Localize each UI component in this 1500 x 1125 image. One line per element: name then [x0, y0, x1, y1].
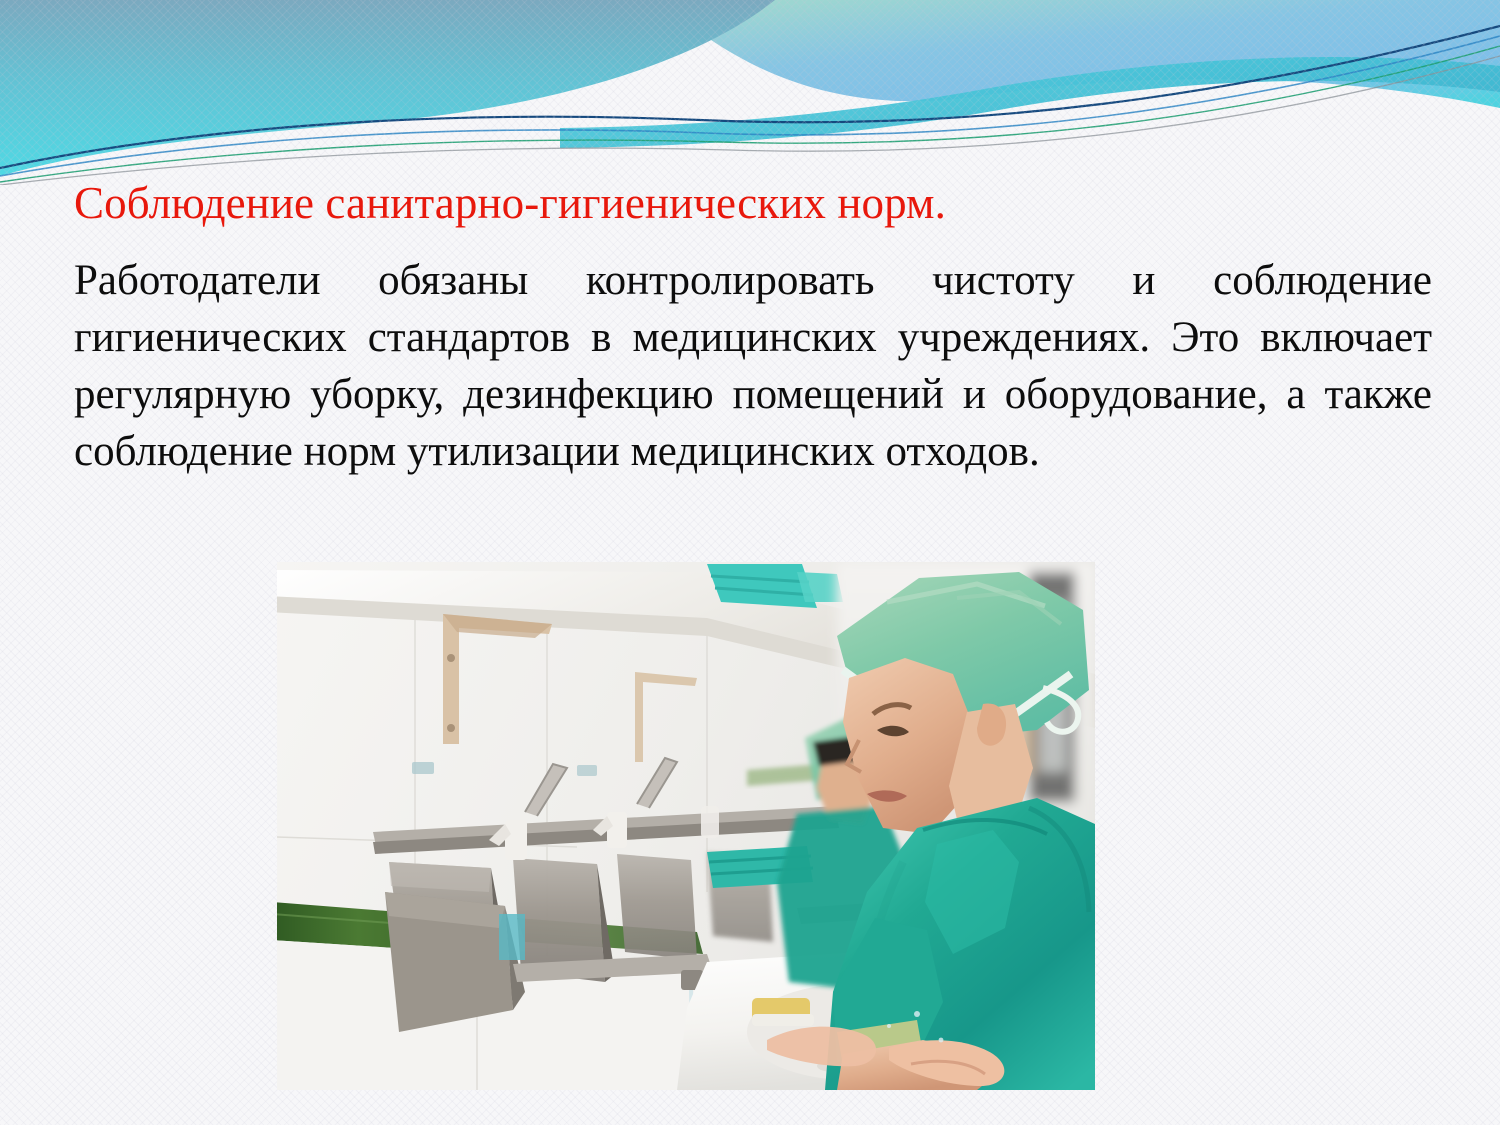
- presentation-slide: Соблюдение санитарно-гигиенических норм.…: [0, 0, 1500, 1125]
- slide-body-text: Работодатели обязаны контролировать чист…: [74, 252, 1432, 480]
- soap-bar: [752, 998, 814, 1026]
- slide-title: Соблюдение санитарно-гигиенических норм.: [74, 178, 1434, 228]
- handwashing-photo: [277, 562, 1095, 1090]
